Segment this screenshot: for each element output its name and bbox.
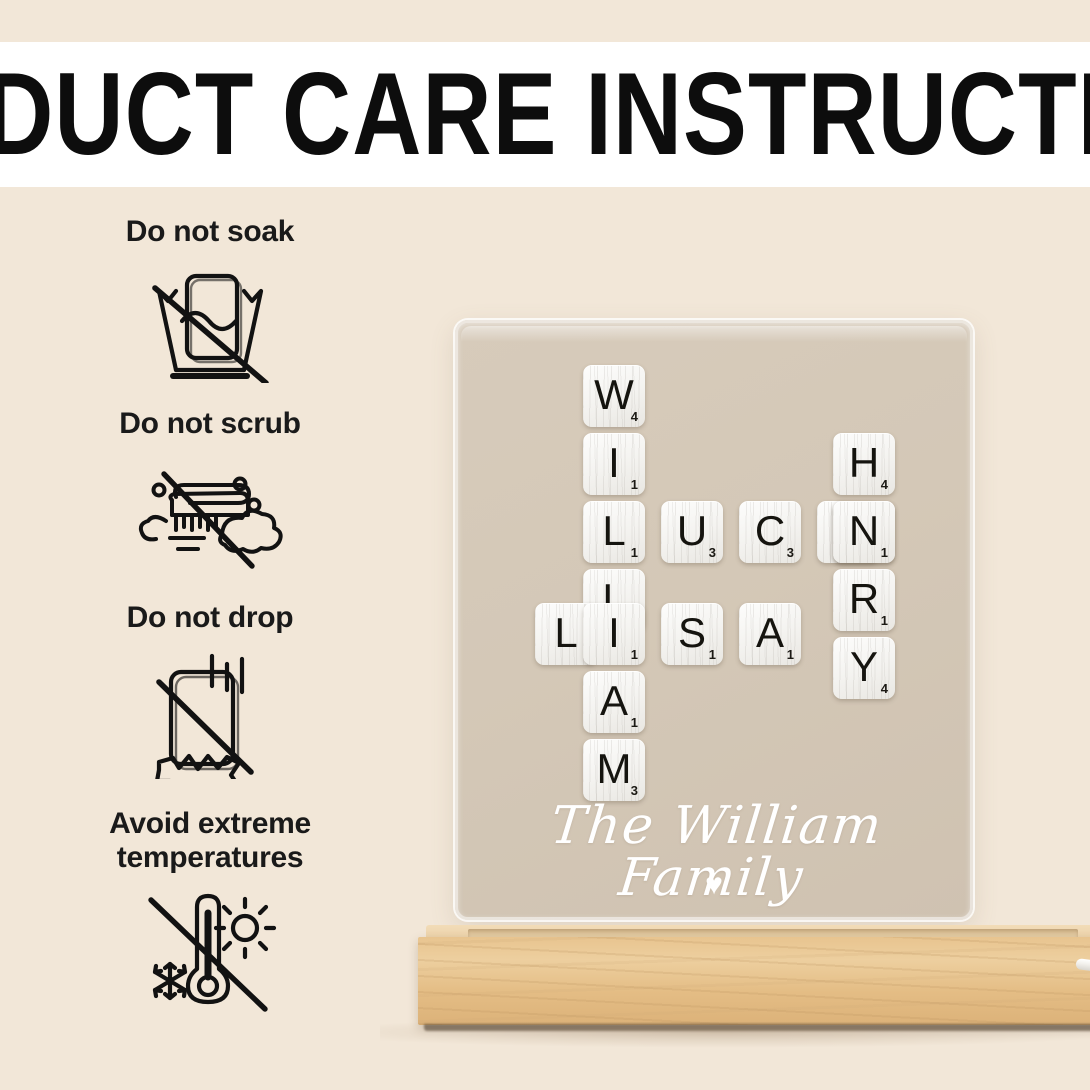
title-band: PRODUCT CARE INSTRUCTIONS [0, 42, 1090, 187]
scrabble-tile: I1 [583, 603, 645, 665]
page-title: PRODUCT CARE INSTRUCTIONS [0, 56, 1090, 173]
tile-points: 1 [631, 648, 638, 661]
floor-shadow [380, 1022, 1090, 1048]
scrabble-tile: R1 [833, 569, 895, 631]
tile-points: 1 [709, 648, 716, 661]
scrabble-tile: S1 [661, 603, 723, 665]
care-label: Do not drop [127, 601, 294, 635]
no-extreme-temperature-icon [135, 883, 285, 1013]
tile-points: 1 [881, 546, 888, 559]
no-scrub-icon [130, 450, 290, 570]
no-soak-icon [135, 258, 285, 383]
wooden-led-base [418, 925, 1090, 1028]
scrabble-tile: M3 [583, 739, 645, 801]
tile-points: 3 [787, 546, 794, 559]
scrabble-tile: L1 [583, 501, 645, 563]
scrabble-tile: A1 [583, 671, 645, 733]
heart-icon: ♥ [455, 870, 973, 900]
tile-points: 1 [631, 478, 638, 491]
tile-points: 1 [631, 716, 638, 729]
scrabble-tile: W4 [583, 365, 645, 427]
scrabble-tile: H4 [833, 433, 895, 495]
tile-points: 4 [881, 478, 888, 491]
no-drop-icon [135, 644, 285, 779]
care-label: Do not soak [126, 215, 294, 249]
care-item-avoid-extreme-temperatures: Avoid extreme temperatures [0, 807, 420, 1013]
base-front-face [418, 937, 1090, 1025]
tile-points: 4 [631, 410, 638, 423]
care-label-line-1: Avoid extreme [109, 807, 311, 840]
care-item-do-not-scrub: Do not scrub [0, 407, 420, 570]
tile-points: 1 [881, 614, 888, 627]
care-item-do-not-drop: Do not drop [0, 601, 420, 779]
tile-points: 1 [787, 648, 794, 661]
infographic-canvas: PRODUCT CARE INSTRUCTIONS Do not soak [0, 0, 1090, 1090]
tile-points: 3 [709, 546, 716, 559]
scrabble-tile: Y4 [833, 637, 895, 699]
tile-points: 1 [631, 546, 638, 559]
plaque-edge-glow [461, 326, 967, 342]
tile-points: 4 [881, 682, 888, 695]
care-label: Do not scrub [119, 407, 300, 441]
scrabble-tile: A1 [739, 603, 801, 665]
scrabble-tile: U3 [661, 501, 723, 563]
scrabble-tile: N1 [833, 501, 895, 563]
scrabble-tile: I1 [583, 433, 645, 495]
care-label: Avoid extreme temperatures [109, 807, 311, 874]
care-item-do-not-soak: Do not soak [0, 215, 420, 383]
care-label-line-2: temperatures [117, 841, 303, 874]
scrabble-tile: C3 [739, 501, 801, 563]
